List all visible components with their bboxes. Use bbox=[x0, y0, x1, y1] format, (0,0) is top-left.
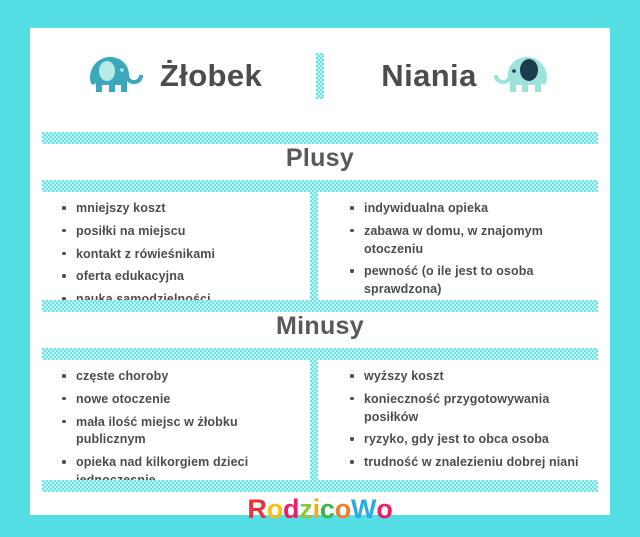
list-item: nowe otoczenie bbox=[60, 391, 306, 409]
plusy-list-niania: indywidualna opieka zabawa w domu, w zna… bbox=[348, 200, 594, 299]
list-item: ryzyko, gdy jest to obca osoba bbox=[348, 431, 594, 449]
list-item: pewność (o ile jest to osoba sprawdzona) bbox=[348, 263, 594, 299]
brand-logo: RodzicoWo bbox=[30, 494, 610, 525]
minusy-list-zlobek: częste choroby nowe otoczenie mała ilość… bbox=[60, 368, 306, 490]
list-item: kontakt z rówieśnikami bbox=[60, 246, 306, 264]
list-item: mała ilość miejsc w żłobku publicznym bbox=[60, 414, 306, 450]
header-row: Żłobek Niania bbox=[30, 28, 610, 124]
logo-letter-3: z bbox=[299, 494, 312, 525]
column-divider-plusy bbox=[310, 192, 318, 300]
header-divider bbox=[316, 53, 324, 99]
plusy-list-zlobek: mniejszy koszt posiłki na miejscu kontak… bbox=[60, 200, 306, 309]
logo-letter-0: R bbox=[247, 494, 266, 525]
list-item: indywidualna opieka bbox=[348, 200, 594, 218]
section-body-minusy: częste choroby nowe otoczenie mała ilość… bbox=[42, 360, 598, 480]
divider-bar-plusy bbox=[42, 180, 598, 192]
logo-letter-8: o bbox=[376, 494, 392, 525]
header-cell-left: Żłobek bbox=[30, 28, 316, 124]
minusy-column-niania: wyższy koszt konieczność przygotowywania… bbox=[318, 360, 598, 480]
section-title-minusy: Minusy bbox=[30, 312, 610, 341]
logo-letter-7: W bbox=[351, 494, 376, 525]
elephant-icon-mint bbox=[491, 50, 553, 102]
elephant-icon-teal bbox=[84, 50, 146, 102]
divider-bar-minusy bbox=[42, 348, 598, 360]
header-title-left: Żłobek bbox=[160, 58, 262, 94]
divider-bar-mid bbox=[42, 300, 598, 312]
header-cell-right: Niania bbox=[324, 28, 610, 124]
logo-letter-6: o bbox=[335, 494, 351, 525]
divider-bar-top bbox=[42, 132, 598, 144]
section-body-plusy: mniejszy koszt posiłki na miejscu kontak… bbox=[42, 192, 598, 300]
list-item: oferta edukacyjna bbox=[60, 268, 306, 286]
content-card: Żłobek Niania Plusy mni bbox=[30, 28, 610, 515]
column-divider-minusy bbox=[310, 360, 318, 480]
logo-letter-1: o bbox=[267, 494, 283, 525]
minusy-list-niania: wyższy koszt konieczność przygotowywania… bbox=[348, 368, 594, 472]
list-item: częste choroby bbox=[60, 368, 306, 386]
header-title-right: Niania bbox=[381, 58, 476, 94]
minusy-column-zlobek: częste choroby nowe otoczenie mała ilość… bbox=[42, 360, 310, 480]
plusy-column-niania: indywidualna opieka zabawa w domu, w zna… bbox=[318, 192, 598, 300]
list-item: posiłki na miejscu bbox=[60, 223, 306, 241]
divider-bar-bottom bbox=[42, 480, 598, 492]
section-title-plusy: Plusy bbox=[30, 144, 610, 173]
logo-letter-2: d bbox=[283, 494, 299, 525]
list-item: konieczność przygotowywania posiłków bbox=[348, 391, 594, 427]
infographic-page: Żłobek Niania Plusy mni bbox=[0, 0, 640, 537]
logo-letter-4: i bbox=[313, 494, 320, 525]
plusy-column-zlobek: mniejszy koszt posiłki na miejscu kontak… bbox=[42, 192, 310, 300]
list-item: mniejszy koszt bbox=[60, 200, 306, 218]
list-item: wyższy koszt bbox=[348, 368, 594, 386]
list-item: trudność w znalezieniu dobrej niani bbox=[348, 454, 594, 472]
list-item: zabawa w domu, w znajomym otoczeniu bbox=[348, 223, 594, 259]
logo-letter-5: c bbox=[320, 494, 335, 525]
